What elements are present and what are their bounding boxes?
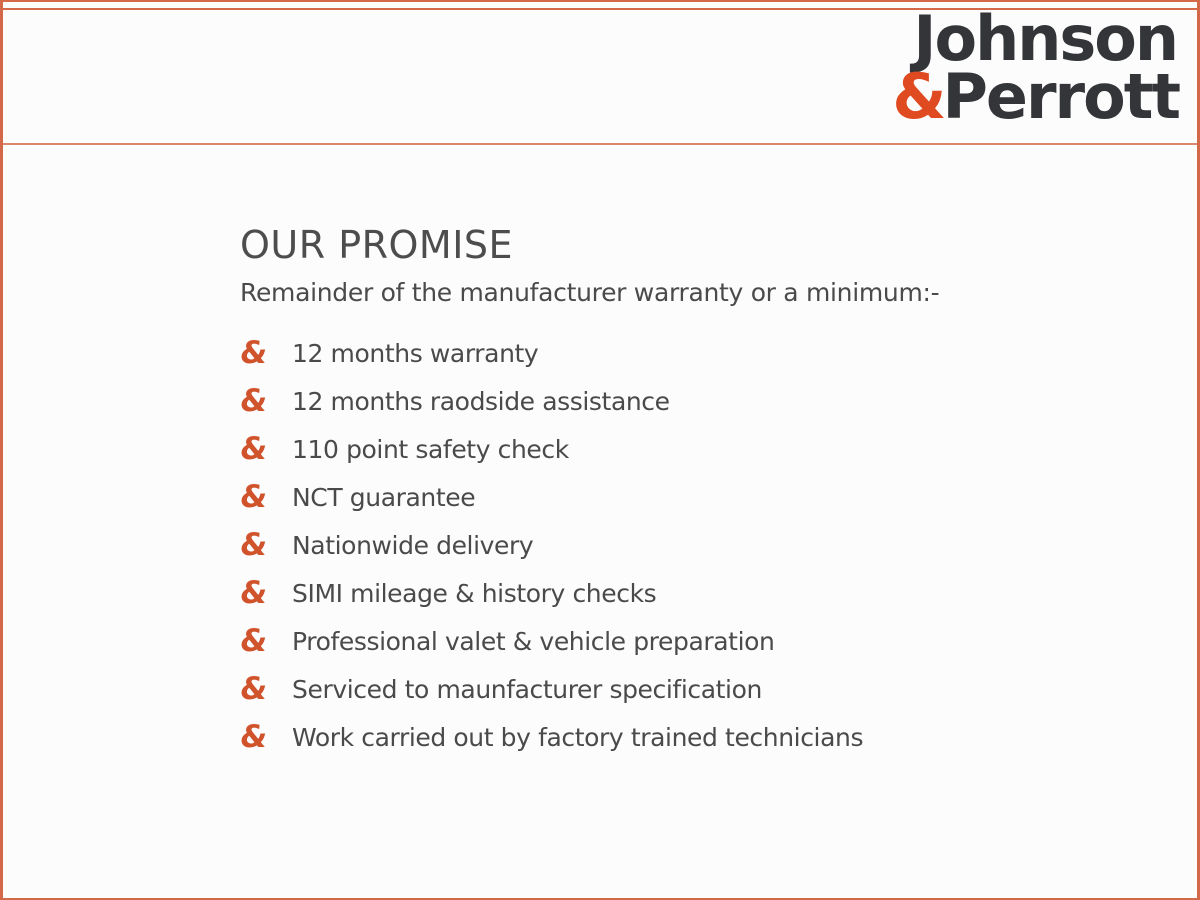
list-item-label: Nationwide delivery (292, 531, 533, 561)
list-item-label: Serviced to maunfacturer specification (292, 675, 762, 705)
list-item-label: Work carried out by factory trained tech… (292, 723, 863, 753)
list-item: & 12 months raodside assistance (240, 378, 1140, 426)
ampersand-bullet-icon: & (238, 674, 293, 705)
promise-list: & 12 months warranty & 12 months raodsid… (240, 330, 1140, 762)
list-item-label: Professional valet & vehicle preparation (292, 627, 774, 657)
promise-slide: Johnson &Perrott OUR PROMISE Remainder o… (0, 0, 1200, 900)
list-item: & Serviced to maunfacturer specification (240, 666, 1140, 714)
list-item: & 12 months warranty (240, 330, 1140, 378)
list-item: & Professional valet & vehicle preparati… (240, 618, 1140, 666)
ampersand-bullet-icon: & (238, 482, 293, 513)
brand-ampersand-icon: & (892, 60, 942, 133)
brand-logo-perrott: Perrott (942, 60, 1179, 133)
ampersand-bullet-icon: & (238, 626, 293, 657)
list-item-label: 110 point safety check (292, 435, 569, 465)
list-item-label: NCT guarantee (292, 483, 475, 513)
list-item-label: 12 months raodside assistance (292, 387, 670, 417)
list-item: & NCT guarantee (240, 474, 1140, 522)
ampersand-bullet-icon: & (238, 434, 293, 465)
list-item: & Nationwide delivery (240, 522, 1140, 570)
list-item-label: SIMI mileage & history checks (292, 579, 656, 609)
ampersand-bullet-icon: & (238, 722, 293, 753)
ampersand-bullet-icon: & (238, 530, 293, 561)
list-item: & SIMI mileage & history checks (240, 570, 1140, 618)
header-bottom-rule (0, 143, 1200, 145)
list-item: & 110 point safety check (240, 426, 1140, 474)
brand-logo-line2: &Perrott (892, 68, 1179, 126)
brand-logo: Johnson &Perrott (892, 10, 1179, 125)
page-title: OUR PROMISE (240, 224, 1140, 268)
ampersand-bullet-icon: & (238, 338, 293, 369)
page-subtitle: Remainder of the manufacturer warranty o… (240, 278, 1140, 308)
list-item: & Work carried out by factory trained te… (240, 714, 1140, 762)
ampersand-bullet-icon: & (238, 386, 293, 417)
promise-content: OUR PROMISE Remainder of the manufacture… (240, 224, 1140, 762)
ampersand-bullet-icon: & (238, 578, 293, 609)
list-item-label: 12 months warranty (292, 339, 538, 369)
